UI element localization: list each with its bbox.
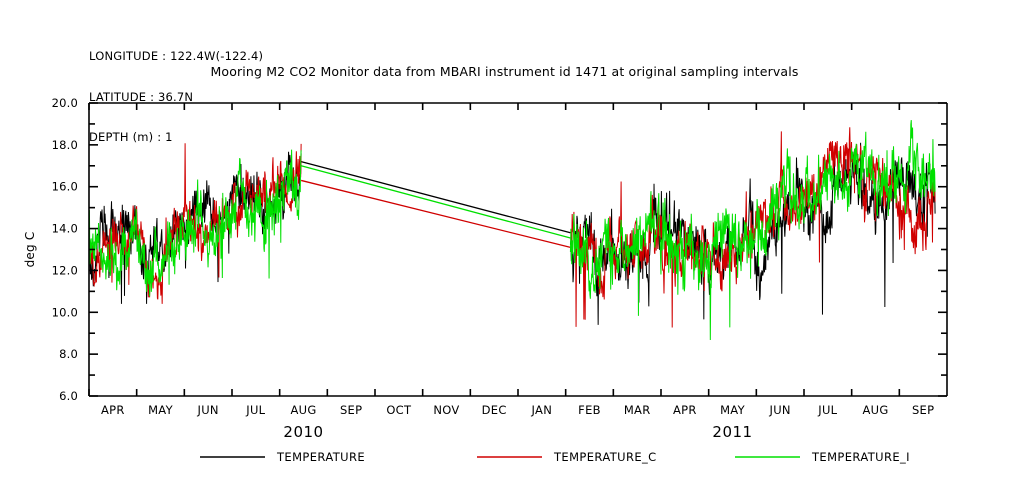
x-axis-month-label: AUG	[290, 403, 316, 417]
x-axis-month-label: AUG	[862, 403, 888, 417]
x-axis-month-label: APR	[673, 403, 697, 417]
x-axis-year-label: 2010	[283, 423, 323, 441]
data-gap-interpolation-line	[301, 180, 570, 247]
legend-item-label: TEMPERATURE	[276, 450, 365, 464]
plot-data-lines	[89, 120, 935, 340]
y-axis-tick-label: 14.0	[52, 222, 78, 236]
x-axis-month-label: JUL	[817, 403, 837, 417]
x-axis-month-label: JUL	[245, 403, 265, 417]
y-axis-title: deg C	[23, 232, 37, 268]
x-axis-month-label: OCT	[386, 403, 412, 417]
data-gap-interpolation-line	[301, 162, 570, 233]
x-axis-month-label: MAY	[148, 403, 173, 417]
x-axis-month-label: NOV	[433, 403, 459, 417]
x-axis-month-label: SEP	[912, 403, 934, 417]
x-axis-month-label: APR	[101, 403, 125, 417]
temperature-time-series-plot: 6.08.010.012.014.016.018.020.0deg CAPRMA…	[0, 0, 1009, 504]
x-axis-month-label: MAR	[624, 403, 651, 417]
x-axis-month-label: JUN	[769, 403, 791, 417]
data-gap-interpolation-line	[301, 166, 570, 238]
chart-page: LONGITUDE : 122.4W(-122.4) LATITUDE : 36…	[0, 0, 1009, 504]
y-axis-tick-label: 12.0	[52, 263, 78, 277]
x-axis-month-label: JAN	[531, 403, 553, 417]
y-axis-tick-label: 16.0	[52, 180, 78, 194]
x-axis-month-label: FEB	[578, 403, 601, 417]
x-axis-year-label: 2011	[712, 423, 752, 441]
x-axis-month-label: DEC	[482, 403, 507, 417]
x-axis-month-label: SEP	[340, 403, 362, 417]
x-axis-month-label: JUN	[197, 403, 219, 417]
x-axis-month-label: MAY	[720, 403, 745, 417]
legend-item-label: TEMPERATURE_C	[553, 450, 657, 464]
y-axis-tick-label: 20.0	[52, 96, 78, 110]
plot-legend: TEMPERATURETEMPERATURE_CTEMPERATURE_I	[200, 450, 910, 464]
series-segment	[570, 127, 935, 327]
legend-item-label: TEMPERATURE_I	[811, 450, 910, 464]
y-axis-tick-label: 18.0	[52, 138, 78, 152]
y-axis-tick-label: 6.0	[59, 389, 78, 403]
y-axis-tick-label: 8.0	[59, 347, 78, 361]
y-axis-tick-label: 10.0	[52, 305, 78, 319]
